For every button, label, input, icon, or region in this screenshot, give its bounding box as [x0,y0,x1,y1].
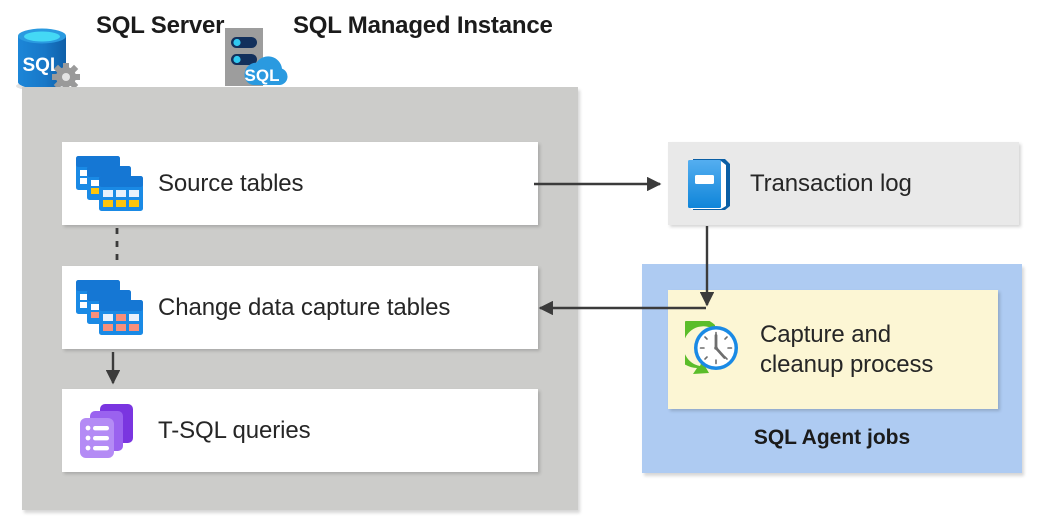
tsql-queries-icon [62,402,158,460]
sql-server-header-label: SQL Server [96,11,224,40]
cdc-tables-icon [62,279,158,337]
svg-text:SQL: SQL [245,66,280,85]
card-transaction-log[interactable]: Transaction log [668,142,1019,225]
card-capture-cleanup-label: Capture and cleanup process [760,320,933,380]
sql-managed-instance-icon: SQL [221,26,287,92]
card-capture-cleanup[interactable]: Capture and cleanup process [668,290,998,409]
card-cdc-tables[interactable]: Change data capture tables [62,266,538,349]
card-transaction-log-label: Transaction log [750,169,912,199]
clock-refresh-icon [668,321,760,379]
sql-managed-instance-header-label: SQL Managed Instance [293,11,553,40]
svg-text:SQL: SQL [22,55,61,76]
source-tables-icon [62,155,158,213]
card-source-tables[interactable]: Source tables [62,142,538,225]
card-source-tables-label: Source tables [158,169,303,199]
card-cdc-tables-label: Change data capture tables [158,293,450,323]
card-tsql-queries-label: T-SQL queries [158,416,311,446]
diagram-canvas: SQL SQL Server [0,0,1044,527]
transaction-log-book-icon [668,157,750,211]
sql-server-database-icon: SQL [14,22,80,96]
card-tsql-queries[interactable]: T-SQL queries [62,389,538,472]
sql-agent-jobs-title: SQL Agent jobs [642,426,1022,450]
